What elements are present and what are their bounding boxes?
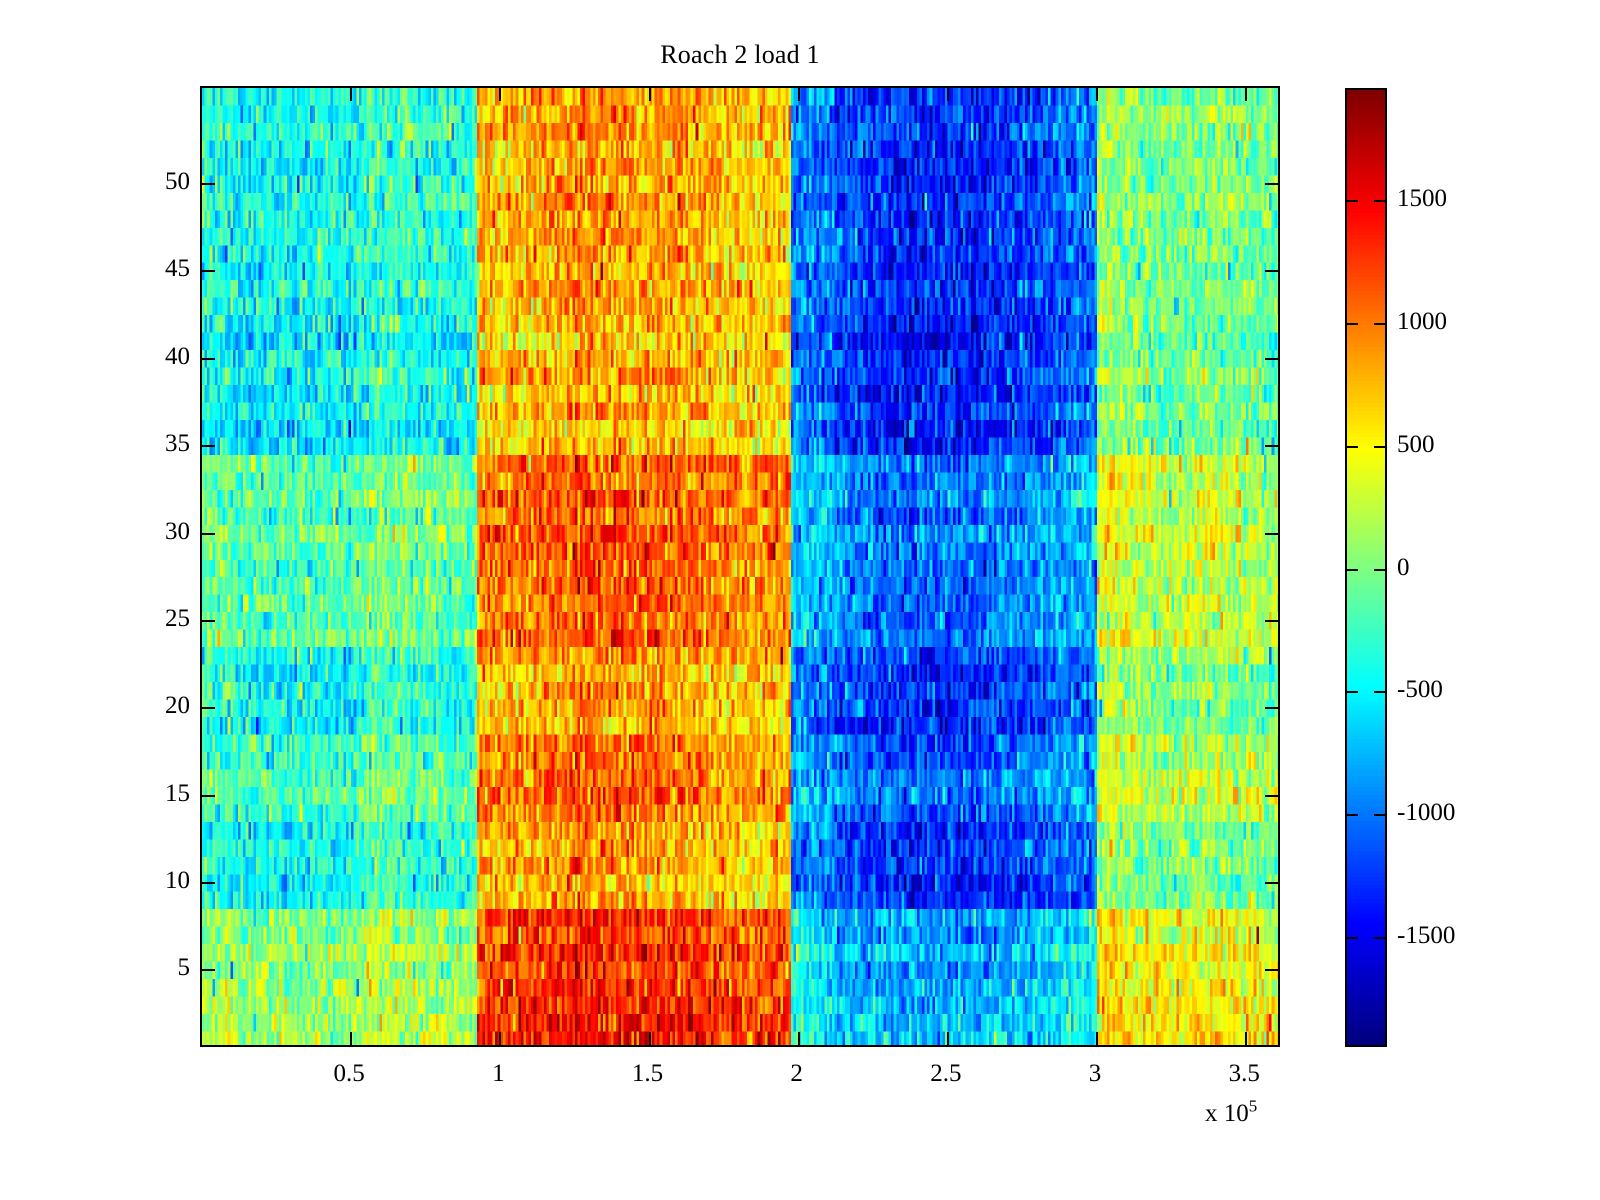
x-tick-label: 3 (1035, 1061, 1155, 1086)
y-tick-label: 5 (178, 955, 191, 980)
x-tick-mark (350, 1032, 352, 1045)
y-tick-mark (1265, 270, 1278, 272)
y-tick-label: 20 (165, 693, 190, 718)
y-tick-mark (1265, 795, 1278, 797)
y-tick-mark (1265, 445, 1278, 447)
x-tick-mark (798, 88, 800, 101)
y-tick-mark (1265, 183, 1278, 185)
x-tick-mark (1245, 88, 1247, 101)
y-tick-mark (202, 620, 215, 622)
colorbar-tick-mark (1347, 814, 1358, 816)
colorbar-tick-mark (1374, 814, 1385, 816)
colorbar-tick-mark (1374, 691, 1385, 693)
colorbar-tick-mark (1374, 200, 1385, 202)
y-tick-mark (202, 270, 215, 272)
y-tick-mark (202, 795, 215, 797)
colorbar-tick-label: -1500 (1397, 923, 1455, 948)
colorbar-tick-mark (1374, 323, 1385, 325)
x-tick-label: 2.5 (886, 1061, 1006, 1086)
y-tick-label: 10 (165, 868, 190, 893)
y-tick-label: 30 (165, 519, 190, 544)
y-tick-mark (202, 969, 215, 971)
y-tick-mark (1265, 707, 1278, 709)
y-tick-label: 25 (165, 606, 190, 631)
x-tick-mark (649, 1032, 651, 1045)
colorbar-tick-label: 1000 (1397, 309, 1447, 334)
x-axis-exponent-label: x 105 (1205, 1100, 1257, 1128)
x-exponent-mantissa: x 10 (1205, 1100, 1249, 1127)
colorbar-tick-mark (1347, 446, 1358, 448)
x-tick-mark (1245, 1032, 1247, 1045)
y-tick-mark (1265, 882, 1278, 884)
x-tick-mark (1096, 88, 1098, 101)
colorbar-tick-mark (1347, 200, 1358, 202)
x-tick-label: 1.5 (588, 1061, 708, 1086)
x-exponent-power: 5 (1249, 1097, 1258, 1116)
y-tick-mark (1265, 620, 1278, 622)
y-tick-mark (202, 358, 215, 360)
x-tick-mark (499, 1032, 501, 1045)
colorbar-tick-mark (1347, 691, 1358, 693)
colorbar-tick-mark (1374, 446, 1385, 448)
colorbar-tick-mark (1374, 937, 1385, 939)
x-tick-mark (1096, 1032, 1098, 1045)
colorbar-tick-mark (1374, 569, 1385, 571)
heatmap-axes[interactable] (200, 86, 1280, 1047)
x-tick-mark (649, 88, 651, 101)
x-tick-mark (947, 88, 949, 101)
colorbar-tick-label: 500 (1397, 432, 1435, 457)
colorbar-tick-mark (1347, 323, 1358, 325)
x-tick-mark (350, 88, 352, 101)
y-tick-label: 50 (165, 169, 190, 194)
y-tick-mark (1265, 969, 1278, 971)
x-tick-label: 1 (438, 1061, 558, 1086)
y-tick-mark (202, 707, 215, 709)
colorbar-tick-mark (1347, 937, 1358, 939)
y-tick-mark (202, 533, 215, 535)
y-tick-label: 15 (165, 781, 190, 806)
y-tick-mark (202, 445, 215, 447)
y-tick-mark (1265, 533, 1278, 535)
x-tick-label: 3.5 (1184, 1061, 1304, 1086)
x-tick-mark (798, 1032, 800, 1045)
x-tick-mark (499, 88, 501, 101)
x-tick-label: 2 (737, 1061, 857, 1086)
y-tick-mark (202, 183, 215, 185)
y-tick-label: 40 (165, 344, 190, 369)
colorbar[interactable] (1345, 88, 1387, 1047)
page-title: Roach 2 load 1 (200, 40, 1280, 70)
colorbar-tick-mark (1347, 569, 1358, 571)
y-tick-label: 35 (165, 431, 190, 456)
colorbar-tick-label: 0 (1397, 555, 1410, 580)
figure-canvas: Roach 2 load 1 5101520253035404550 0.511… (0, 0, 1600, 1200)
y-tick-mark (202, 882, 215, 884)
colorbar-tick-label: -500 (1397, 677, 1443, 702)
y-tick-mark (1265, 358, 1278, 360)
x-tick-mark (947, 1032, 949, 1045)
colorbar-tick-label: -1000 (1397, 800, 1455, 825)
x-tick-label: 0.5 (289, 1061, 409, 1086)
colorbar-tick-label: 1500 (1397, 186, 1447, 211)
y-tick-label: 45 (165, 256, 190, 281)
heatmap-image (202, 88, 1280, 1047)
colorbar-gradient (1347, 90, 1385, 1045)
